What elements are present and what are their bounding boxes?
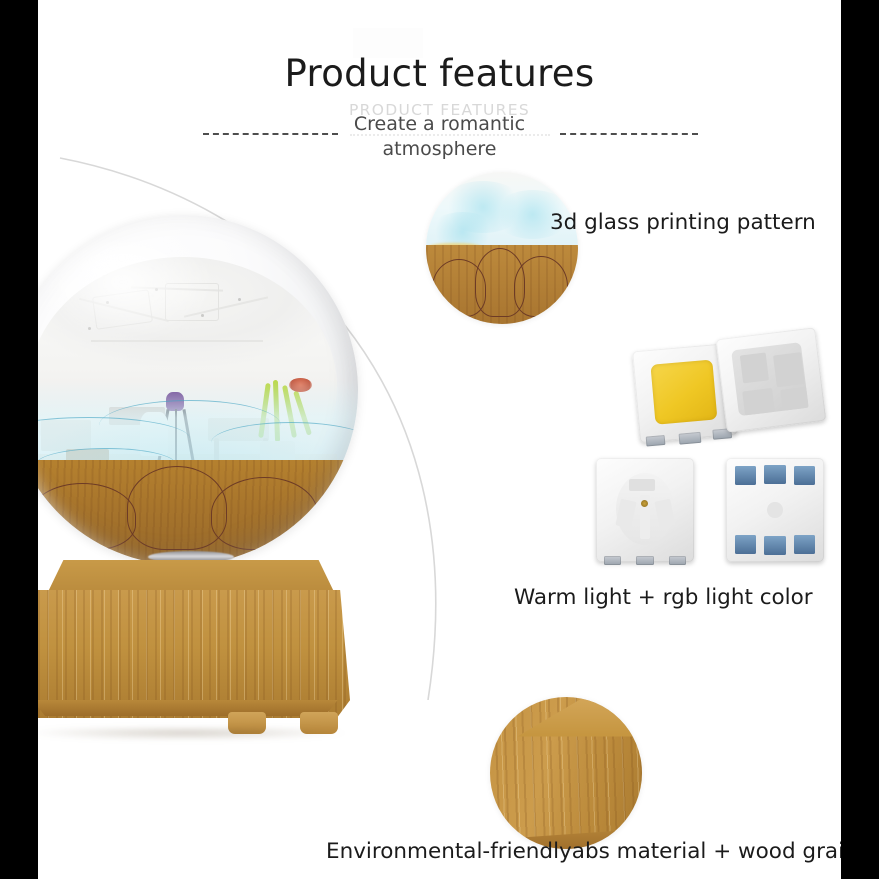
divider-dash-left: [203, 133, 338, 135]
page-subtitle: Create a romantic atmosphere: [38, 112, 841, 162]
feature-caption-glass-pattern: 3d glass printing pattern: [550, 210, 816, 235]
feature-caption-light-color: Warm light + rgb light color: [514, 585, 813, 610]
divider-dash-right: [560, 133, 698, 135]
page-header: Product features PRODUCT FEATURES Create…: [38, 0, 841, 175]
led-photo-rgb: [586, 452, 831, 574]
wooden-base: [38, 560, 350, 745]
product-photo-main: [38, 215, 418, 835]
inset-photo-glass-pattern: [426, 172, 578, 324]
glass-sphere: [38, 215, 358, 565]
content-canvas: Product features PRODUCT FEATURES Create…: [38, 0, 841, 879]
product-feature-page: Product features PRODUCT FEATURES Create…: [0, 0, 879, 879]
led-warm-back: [716, 327, 827, 432]
led-rgb-contact-face: [726, 458, 824, 562]
divider-dots: [350, 134, 550, 136]
led-photo-warm-white: [636, 333, 831, 445]
page-title: Product features: [38, 55, 841, 92]
inset-photo-wood-material: [490, 697, 642, 849]
feature-caption-material: Environmental-friendlyabs material + woo…: [326, 839, 841, 864]
led-rgb-emitter-face: [596, 458, 694, 562]
